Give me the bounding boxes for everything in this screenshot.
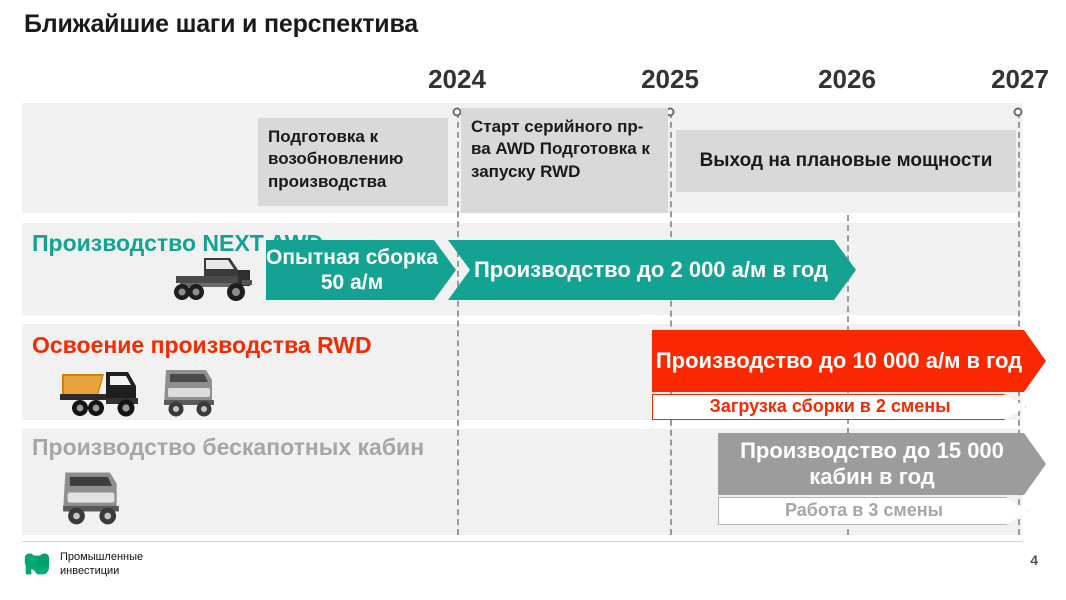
cab-over-truck-icon-2 bbox=[56, 468, 126, 526]
year-label-2024: 2024 bbox=[412, 64, 502, 95]
logo-text-line2: инвестиции bbox=[60, 565, 143, 579]
bar-rabota-3-smeny: Работа в 3 смены bbox=[718, 497, 1028, 525]
page-number: 4 bbox=[1030, 552, 1038, 568]
milestone-block-2: Старт серийного пр-ва AWD Подготовка к з… bbox=[461, 108, 668, 213]
row-label-rwd: Освоение производства RWD bbox=[32, 333, 372, 359]
cab-over-truck-icon bbox=[158, 366, 220, 418]
awd-chassis-truck-icon bbox=[170, 246, 266, 308]
bar-production-15000: Производство до 15 000 кабин в год bbox=[718, 433, 1046, 495]
row-label-cabs: Производство бескапотных кабин bbox=[32, 435, 424, 461]
slide-root: Ближайшие шаги и перспектива 2024 2025 2… bbox=[0, 0, 1066, 600]
logo-text-line1: Промышленные bbox=[60, 551, 143, 565]
milestone-block-3: Выход на плановые мощности bbox=[676, 130, 1016, 192]
year-label-2026: 2026 bbox=[802, 64, 892, 95]
bar-opytnaya-sborka: Опытная сборка 50 а/м bbox=[266, 240, 456, 300]
dump-truck-icon bbox=[58, 366, 144, 418]
prominvest-logo-icon bbox=[22, 550, 52, 580]
year-label-2027: 2027 bbox=[975, 64, 1065, 95]
year-label-2025: 2025 bbox=[625, 64, 715, 95]
timeline-guide-2025 bbox=[670, 112, 672, 535]
footer-divider bbox=[22, 541, 1022, 542]
bar-zagruzka-2-smeny: Загрузка сборки в 2 смены bbox=[652, 394, 1026, 420]
bar-production-2000: Производство до 2 000 а/м в год bbox=[448, 240, 856, 300]
timeline-guide-dot-2027 bbox=[1014, 108, 1023, 117]
logo-text: Промышленные инвестиции bbox=[60, 551, 143, 579]
timeline-guide-2024 bbox=[457, 112, 459, 535]
milestone-block-1: Подготовка к возобновлению производства bbox=[258, 118, 448, 206]
bar-production-10000: Производство до 10 000 а/м в год bbox=[652, 330, 1046, 392]
page-title: Ближайшие шаги и перспектива bbox=[24, 10, 418, 39]
company-logo: Промышленные инвестиции bbox=[22, 550, 143, 580]
